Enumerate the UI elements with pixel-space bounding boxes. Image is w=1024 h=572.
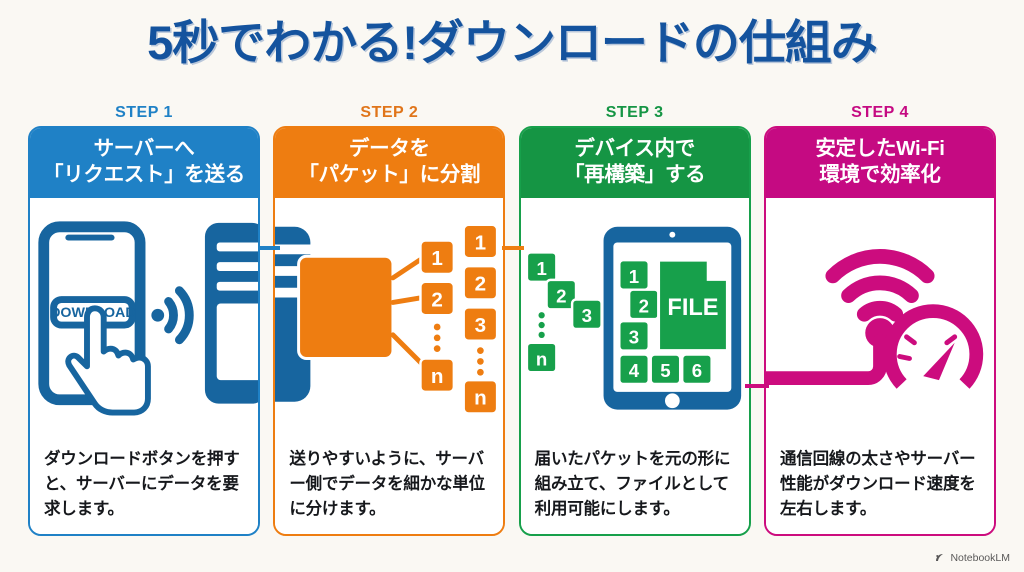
connector-3-4 (745, 384, 769, 388)
step-heading-4-line2: 環境で効率化 (770, 162, 990, 188)
svg-text:1: 1 (475, 232, 486, 255)
step-body-2: 1 2 n (275, 198, 503, 534)
step-caption-2: 送りやすいように、サーバー側でデータを細かな単位に分けます。 (275, 443, 503, 534)
infographic-page: 5秒でわかる!ダウンロードの仕組み STEP 1 サーバーへ 「リクエスト」を送… (0, 0, 1024, 572)
step-heading-2-line2: 「パケット」に分割 (279, 162, 499, 188)
step-column-4: STEP 4 安定したWi-Fi 環境で効率化 (764, 104, 996, 536)
steps-container: STEP 1 サーバーへ 「リクエスト」を送る (28, 104, 996, 536)
svg-text:2: 2 (638, 296, 648, 317)
svg-text:n: n (431, 366, 444, 389)
svg-text:3: 3 (581, 306, 591, 327)
watermark: NotebookLM (934, 552, 1010, 564)
svg-text:2: 2 (475, 273, 486, 296)
step-heading-3: デバイス内で 「再構築」する (521, 128, 749, 198)
svg-text:3: 3 (475, 314, 486, 337)
wifi-speed-illustration (766, 198, 994, 442)
step-column-3: STEP 3 デバイス内で 「再構築」する 1 2 (519, 104, 751, 536)
step-heading-4: 安定したWi-Fi 環境で効率化 (766, 128, 994, 198)
packet-tile-group-column: 1 2 3 n (464, 225, 497, 414)
svg-text:1: 1 (432, 248, 443, 271)
phone-request-illustration: DOWNLOAD (30, 198, 258, 442)
step-body-1: DOWNLOAD (30, 198, 258, 534)
page-title: 5秒でわかる!ダウンロードの仕組み (0, 16, 1024, 70)
connector-1-2 (258, 246, 280, 250)
incoming-packet-tiles: 1 2 3 n (527, 253, 602, 373)
step-heading-2: データを 「パケット」に分割 (275, 128, 503, 198)
file-document-icon: FILE (658, 261, 727, 351)
step-heading-3-line2: 「再構築」する (525, 162, 745, 188)
step-card-4[interactable]: 安定したWi-Fi 環境で効率化 (764, 126, 996, 536)
step-label-4: STEP 4 (764, 104, 996, 126)
svg-text:1: 1 (536, 258, 546, 279)
step-heading-3-line1: デバイス内で (525, 136, 745, 162)
wifi-signal-arcs-icon (833, 257, 927, 315)
router-cable-icon (766, 319, 895, 379)
connector-2-3 (502, 246, 524, 250)
data-block-icon (299, 257, 393, 359)
step-caption-3: 届いたパケットを元の形に組み立て、ファイルとして利用可能にします。 (521, 443, 749, 534)
step-heading-1-line1: サーバーへ (34, 136, 254, 162)
step-label-2: STEP 2 (273, 104, 505, 126)
step-caption-4: 通信回線の太さやサーバー性能がダウンロード速度を左右します。 (766, 443, 994, 534)
step-label-3: STEP 3 (519, 104, 751, 126)
file-label: FILE (667, 295, 718, 321)
packet-split-illustration: 1 2 n (275, 198, 503, 442)
watermark-label: NotebookLM (950, 552, 1010, 564)
step-caption-1: ダウンロードボタンを押すと、サーバーにデータを要求します。 (30, 443, 258, 534)
step-card-1[interactable]: サーバーへ 「リクエスト」を送る (28, 126, 260, 536)
step-body-4: 通信回線の太さやサーバー性能がダウンロード速度を左右します。 (766, 198, 994, 534)
step-label-1: STEP 1 (28, 104, 260, 126)
step-card-2[interactable]: データを 「パケット」に分割 (273, 126, 505, 536)
svg-text:4: 4 (628, 361, 639, 382)
svg-text:5: 5 (660, 361, 670, 382)
server-rack-icon (205, 223, 258, 404)
step-body-3: 1 2 3 n (521, 198, 749, 534)
step-heading-4-line1: 安定したWi-Fi (770, 136, 990, 162)
step-column-2: STEP 2 データを 「パケット」に分割 (273, 104, 505, 536)
step-heading-1: サーバーへ 「リクエスト」を送る (30, 128, 258, 198)
svg-text:2: 2 (556, 286, 566, 307)
step-heading-1-line2: 「リクエスト」を送る (34, 162, 254, 188)
svg-text:n: n (536, 349, 547, 370)
step-column-1: STEP 1 サーバーへ 「リクエスト」を送る (28, 104, 260, 536)
wifi-signal-icon (151, 291, 189, 340)
svg-text:1: 1 (628, 266, 638, 287)
step-heading-2-line1: データを (279, 136, 499, 162)
packet-tile-group-branch: 1 2 n (421, 241, 454, 392)
svg-text:n: n (474, 387, 487, 410)
step-card-3[interactable]: デバイス内で 「再構築」する 1 2 (519, 126, 751, 536)
svg-text:3: 3 (628, 327, 638, 348)
speedometer-gauge-icon (890, 312, 976, 385)
notebooklm-logo-icon (934, 552, 946, 564)
svg-text:6: 6 (691, 361, 701, 382)
svg-text:2: 2 (432, 289, 443, 312)
split-lines-icon (393, 259, 422, 365)
device-reassembly-illustration: 1 2 3 n (521, 198, 749, 442)
